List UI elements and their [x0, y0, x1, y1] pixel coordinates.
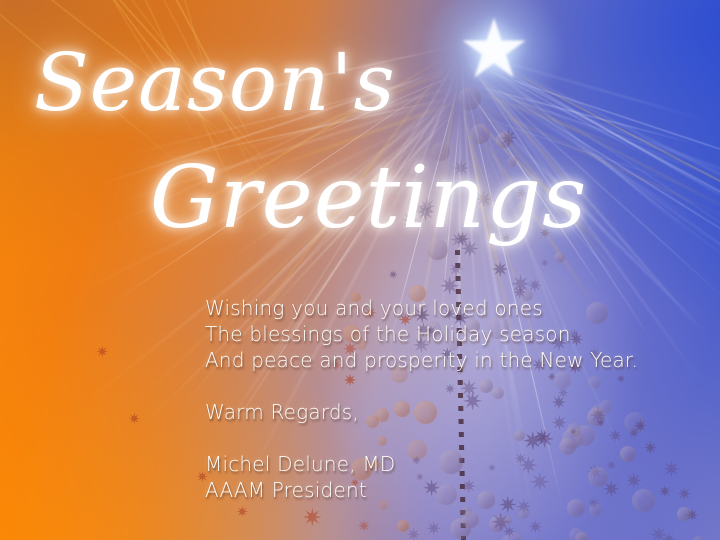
- greeting-card: ★ ✷✷✷✷✷✷✷✷✷✷✷✷✷✷✷✷✷✷✷✷✷✷✷✷✷✷✷✷✷✷✷✷✷✷✷✷✷✷…: [0, 0, 720, 540]
- signature-block: Michel Delune, MD AAAM President: [205, 451, 705, 503]
- message-line: The blessings of the Holiday season: [205, 322, 571, 346]
- message-line: And peace and prosperity in the New Year…: [205, 348, 638, 372]
- spacer: [205, 373, 705, 399]
- spacer: [205, 425, 705, 451]
- signature-title: AAAM President: [205, 477, 705, 503]
- signature-name: Michel Delune, MD: [205, 451, 705, 477]
- closing-text: Warm Regards,: [205, 400, 359, 424]
- message-line: Wishing you and your loved ones: [205, 296, 543, 320]
- message-block: Wishing you and your loved ones The bles…: [205, 295, 705, 503]
